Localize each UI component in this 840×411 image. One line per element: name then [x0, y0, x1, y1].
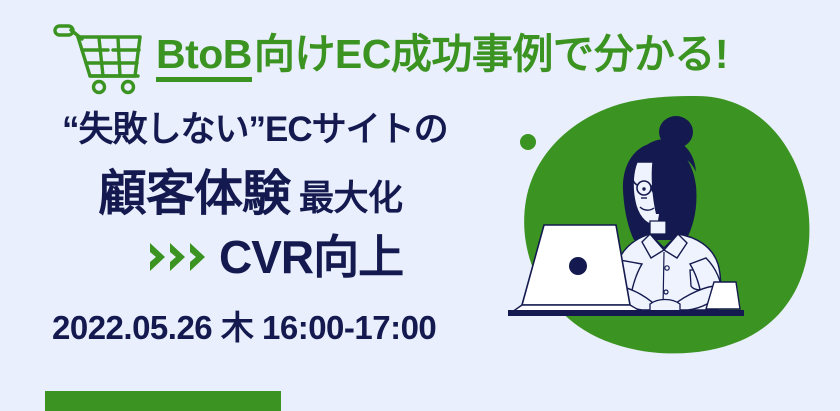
cvr-row: CVR向上: [148, 234, 403, 280]
eye-right: [658, 187, 661, 190]
schedule-text: 2022.05.26 木 16:00-17:00: [52, 311, 436, 344]
subheading-text: “失敗しない”ECサイトの: [62, 112, 448, 147]
desk-surface-line: [508, 310, 744, 316]
main-copy-row: 顧客体験 最大化: [98, 170, 403, 219]
laptop-logo-dot: [569, 257, 587, 275]
neck: [650, 221, 666, 234]
main-copy-secondary: 最大化: [299, 181, 403, 216]
headline-row: BtoB 向けEC成功事例で分かる!: [52, 21, 728, 95]
chevron-group: [148, 241, 207, 273]
chevron-right-icon: [188, 241, 207, 273]
headline-rest-part: 向けEC成功事例で分かる!: [254, 34, 728, 75]
cvr-text: CVR向上: [219, 234, 403, 280]
webinar-banner: BtoB 向けEC成功事例で分かる! “失敗しない”ECサイトの 顧客体験 最大…: [0, 0, 840, 411]
eye-left: [642, 187, 645, 190]
bottom-green-bar: [45, 391, 281, 411]
chevron-right-icon: [168, 241, 187, 273]
illustration-container: [500, 88, 840, 363]
shopping-cart-icon: [52, 21, 148, 95]
main-copy-emphasis: 顧客体験: [98, 170, 290, 219]
green-dot-accent: [520, 134, 536, 150]
chevron-right-icon: [148, 241, 167, 273]
headline-underlined-part: BtoB: [156, 34, 252, 82]
headline-text: BtoB 向けEC成功事例で分かる!: [156, 34, 728, 82]
